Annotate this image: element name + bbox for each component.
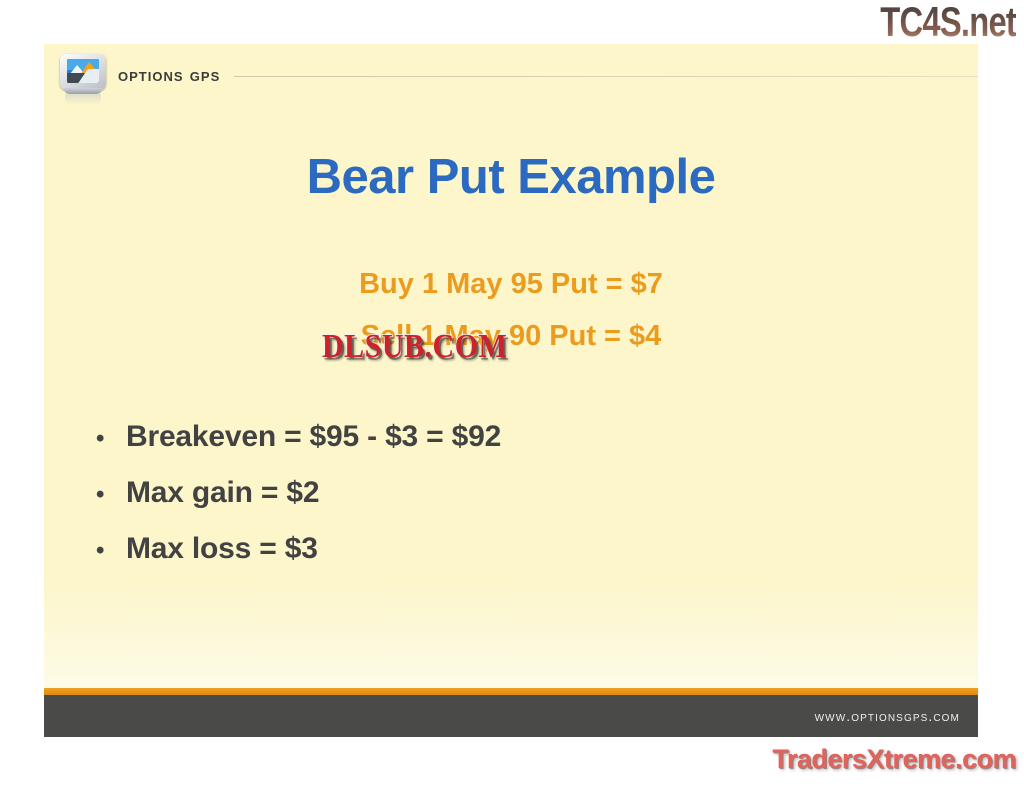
bullet-dot-icon: • xyxy=(96,483,126,507)
list-item: • Max gain = $2 xyxy=(96,476,501,510)
slide-background-fade xyxy=(44,578,978,688)
bullet-list: • Breakeven = $95 - $3 = $92 • Max gain … xyxy=(96,420,501,588)
gps-device-body xyxy=(60,54,106,90)
list-item: • Max loss = $3 xyxy=(96,532,501,566)
gps-device-icon xyxy=(60,54,106,98)
footer-accent-stripe xyxy=(44,688,978,695)
list-item-label: Max loss = $3 xyxy=(126,532,318,566)
gps-device-screen xyxy=(67,59,99,83)
tradersxtreme-brand: TradersXtreme.com xyxy=(772,744,1016,775)
list-item-label: Max gain = $2 xyxy=(126,476,319,510)
footer-website-url: www.OptionsGPS.com xyxy=(815,708,960,724)
gps-device-reflection xyxy=(65,94,101,105)
slide-header: Options GPS xyxy=(44,44,978,108)
list-item-label: Breakeven = $95 - $3 = $92 xyxy=(126,420,501,454)
presentation-slide: Options GPS Bear Put Example Buy 1 May 9… xyxy=(44,44,978,737)
slide-title: Bear Put Example xyxy=(44,149,978,205)
slide-footer-bar: www.OptionsGPS.com xyxy=(44,695,978,737)
trade-setup-lines: Buy 1 May 95 Put = $7 Sell 1 May 90 Put … xyxy=(44,259,978,362)
bullet-dot-icon: • xyxy=(96,539,126,563)
tc4s-net-brand: TC4S.net xyxy=(880,0,1016,46)
trade-line-sell: Sell 1 May 90 Put = $4 xyxy=(44,311,978,363)
options-gps-wordmark: Options GPS xyxy=(118,65,220,87)
header-divider-rule xyxy=(234,76,978,77)
bullet-dot-icon: • xyxy=(96,427,126,451)
trade-line-buy: Buy 1 May 95 Put = $7 xyxy=(44,259,978,311)
dlsub-watermark: DLSUB.COM xyxy=(322,328,507,366)
list-item: • Breakeven = $95 - $3 = $92 xyxy=(96,420,501,454)
